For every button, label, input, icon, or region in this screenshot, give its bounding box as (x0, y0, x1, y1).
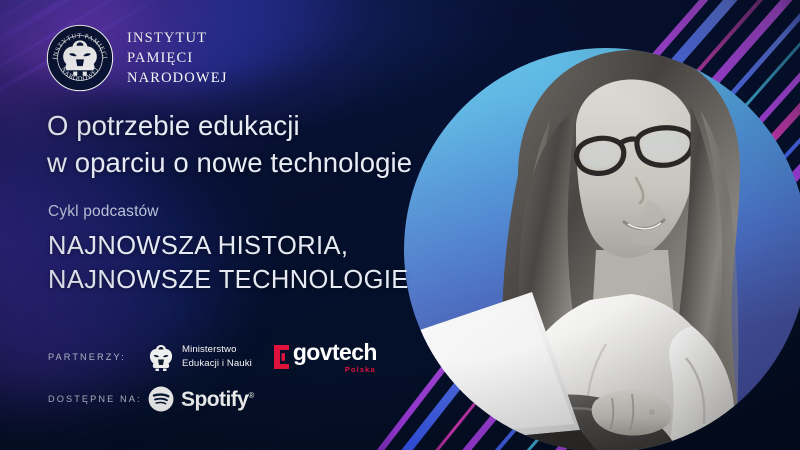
podcast-promo-poster: INSTYTUT PAMIĘCI NARODOWEJ INSTYTUT PAMI… (0, 0, 800, 450)
vignette-overlay (0, 0, 800, 450)
